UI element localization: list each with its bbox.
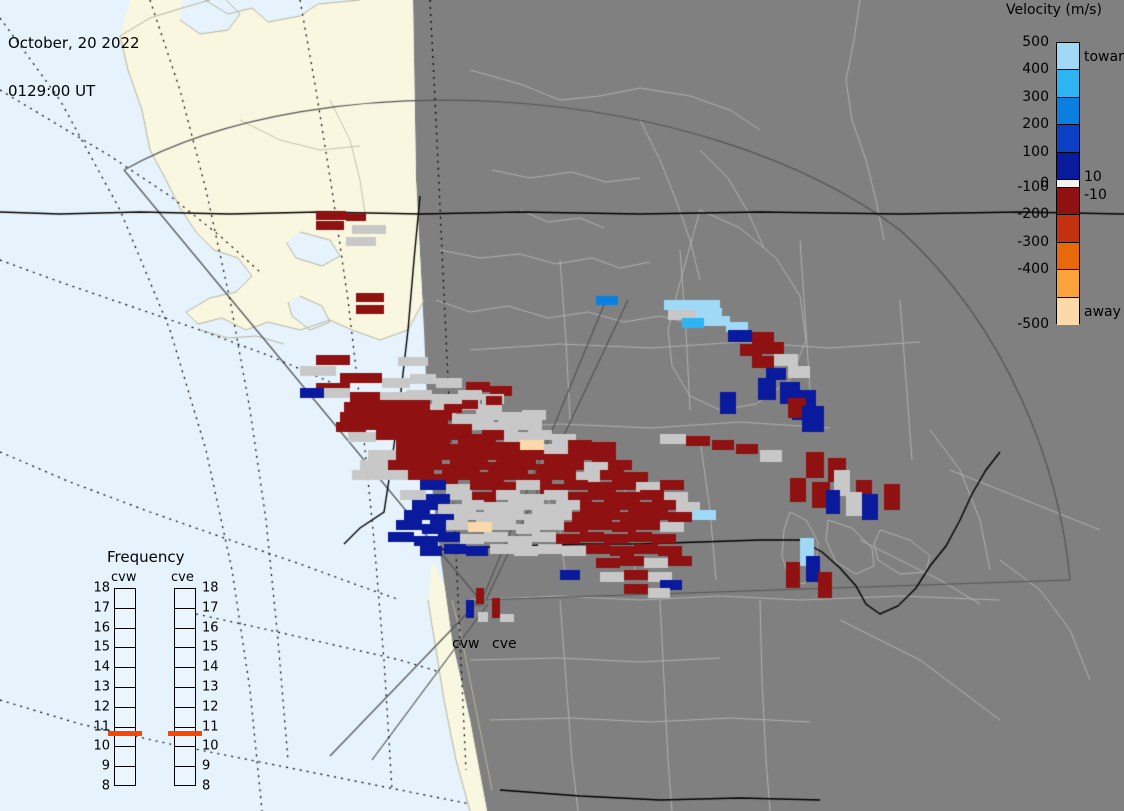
frequency-gauge-segment xyxy=(175,767,195,787)
velocity-colorbar-band xyxy=(1057,43,1079,70)
velocity-legend-title: Velocity (m/s) xyxy=(1006,2,1102,18)
frequency-tick-label: 8 xyxy=(92,779,110,794)
zero-lower-label: -10 xyxy=(1084,187,1107,203)
velocity-tick-label: -300 xyxy=(1017,234,1049,250)
toward-label: toward xyxy=(1084,49,1124,65)
frequency-gauge-segment xyxy=(115,747,135,767)
velocity-colorbar-band xyxy=(1057,153,1079,180)
zero-upper-label: 10 xyxy=(1084,169,1102,185)
frequency-marker xyxy=(108,731,142,736)
frequency-gauge-segment xyxy=(175,609,195,629)
velocity-colorbar-band xyxy=(1057,125,1079,152)
velocity-tick-label: -200 xyxy=(1017,206,1049,222)
timestamp: October, 20 2022 0129:00 UT xyxy=(8,3,140,131)
velocity-colorbar-band xyxy=(1057,70,1079,97)
frequency-gauge-segment xyxy=(115,648,135,668)
frequency-tick-label: 11 xyxy=(202,719,219,734)
frequency-tick-label: 12 xyxy=(92,699,110,714)
frequency-gauge-column xyxy=(174,588,196,786)
frequency-gauge-segment xyxy=(175,648,195,668)
frequency-legend-title: Frequency xyxy=(107,548,185,566)
velocity-tick-label: 400 xyxy=(1022,61,1049,77)
frequency-tick-label: 16 xyxy=(92,620,110,635)
frequency-gauge-segment xyxy=(115,708,135,728)
frequency-tick-label: 18 xyxy=(202,581,219,596)
frequency-gauge-segment xyxy=(115,609,135,629)
velocity-colorbar xyxy=(1056,42,1080,324)
frequency-tick-label: 17 xyxy=(92,600,110,615)
radar-site-label: cvw xyxy=(452,636,479,652)
velocity-colorbar-band xyxy=(1057,243,1079,270)
frequency-gauge-name: cve xyxy=(171,570,194,585)
radar-site-label: cve xyxy=(492,636,517,652)
velocity-colorbar-band xyxy=(1057,298,1079,325)
frequency-tick-label: 15 xyxy=(92,640,110,655)
velocity-colorbar-band xyxy=(1057,270,1079,297)
frequency-gauge-column xyxy=(114,588,136,786)
velocity-tick-label: 300 xyxy=(1022,89,1049,105)
velocity-tick-label: 500 xyxy=(1022,34,1049,50)
frequency-tick-label: 15 xyxy=(202,640,219,655)
frequency-tick-label: 17 xyxy=(202,600,219,615)
frequency-gauge-segment xyxy=(115,629,135,649)
frequency-tick-label: 18 xyxy=(92,581,110,596)
frequency-gauge-segment xyxy=(115,767,135,787)
velocity-tick-label: -400 xyxy=(1017,261,1049,277)
frequency-tick-label: 13 xyxy=(92,680,110,695)
timestamp-date: October, 20 2022 xyxy=(8,35,140,51)
velocity-colorbar-band xyxy=(1057,215,1079,242)
velocity-legend: Velocity (m/s) 5004003002001000-100-200-… xyxy=(1004,2,1124,338)
frequency-tick-label: 9 xyxy=(202,759,210,774)
radar-velocity-map: October, 20 2022 0129:00 UT Velocity (m/… xyxy=(0,0,1124,811)
frequency-gauge-segment xyxy=(175,688,195,708)
timestamp-time: 0129:00 UT xyxy=(8,83,140,99)
frequency-tick-label: 12 xyxy=(202,699,219,714)
frequency-tick-label: 8 xyxy=(202,779,210,794)
frequency-tick-label: 13 xyxy=(202,680,219,695)
frequency-tick-label: 14 xyxy=(92,660,110,675)
velocity-tick-label: -100 xyxy=(1017,179,1049,195)
frequency-gauge-segment xyxy=(115,688,135,708)
velocity-tick-label: 100 xyxy=(1022,144,1049,160)
frequency-gauge-segment xyxy=(175,589,195,609)
velocity-colorbar-band xyxy=(1057,180,1079,188)
velocity-colorbar-band xyxy=(1057,98,1079,125)
velocity-tick-label: 200 xyxy=(1022,116,1049,132)
frequency-tick-label: 9 xyxy=(92,759,110,774)
frequency-legend: Frequency cvw18171615141312111098cve1817… xyxy=(92,548,232,798)
frequency-gauge-segment xyxy=(175,629,195,649)
frequency-tick-label: 10 xyxy=(202,739,219,754)
frequency-marker xyxy=(168,731,202,736)
frequency-gauge-segment xyxy=(175,747,195,767)
away-label: away xyxy=(1084,304,1121,320)
frequency-gauge-segment xyxy=(175,668,195,688)
frequency-tick-label: 16 xyxy=(202,620,219,635)
velocity-colorbar-band xyxy=(1057,188,1079,215)
frequency-gauge-name: cvw xyxy=(111,570,136,585)
velocity-tick-label: -500 xyxy=(1017,316,1049,332)
frequency-gauge-segment xyxy=(115,589,135,609)
frequency-gauge-segment xyxy=(115,668,135,688)
frequency-tick-label: 14 xyxy=(202,660,219,675)
frequency-gauge-segment xyxy=(175,708,195,728)
frequency-tick-label: 10 xyxy=(92,739,110,754)
